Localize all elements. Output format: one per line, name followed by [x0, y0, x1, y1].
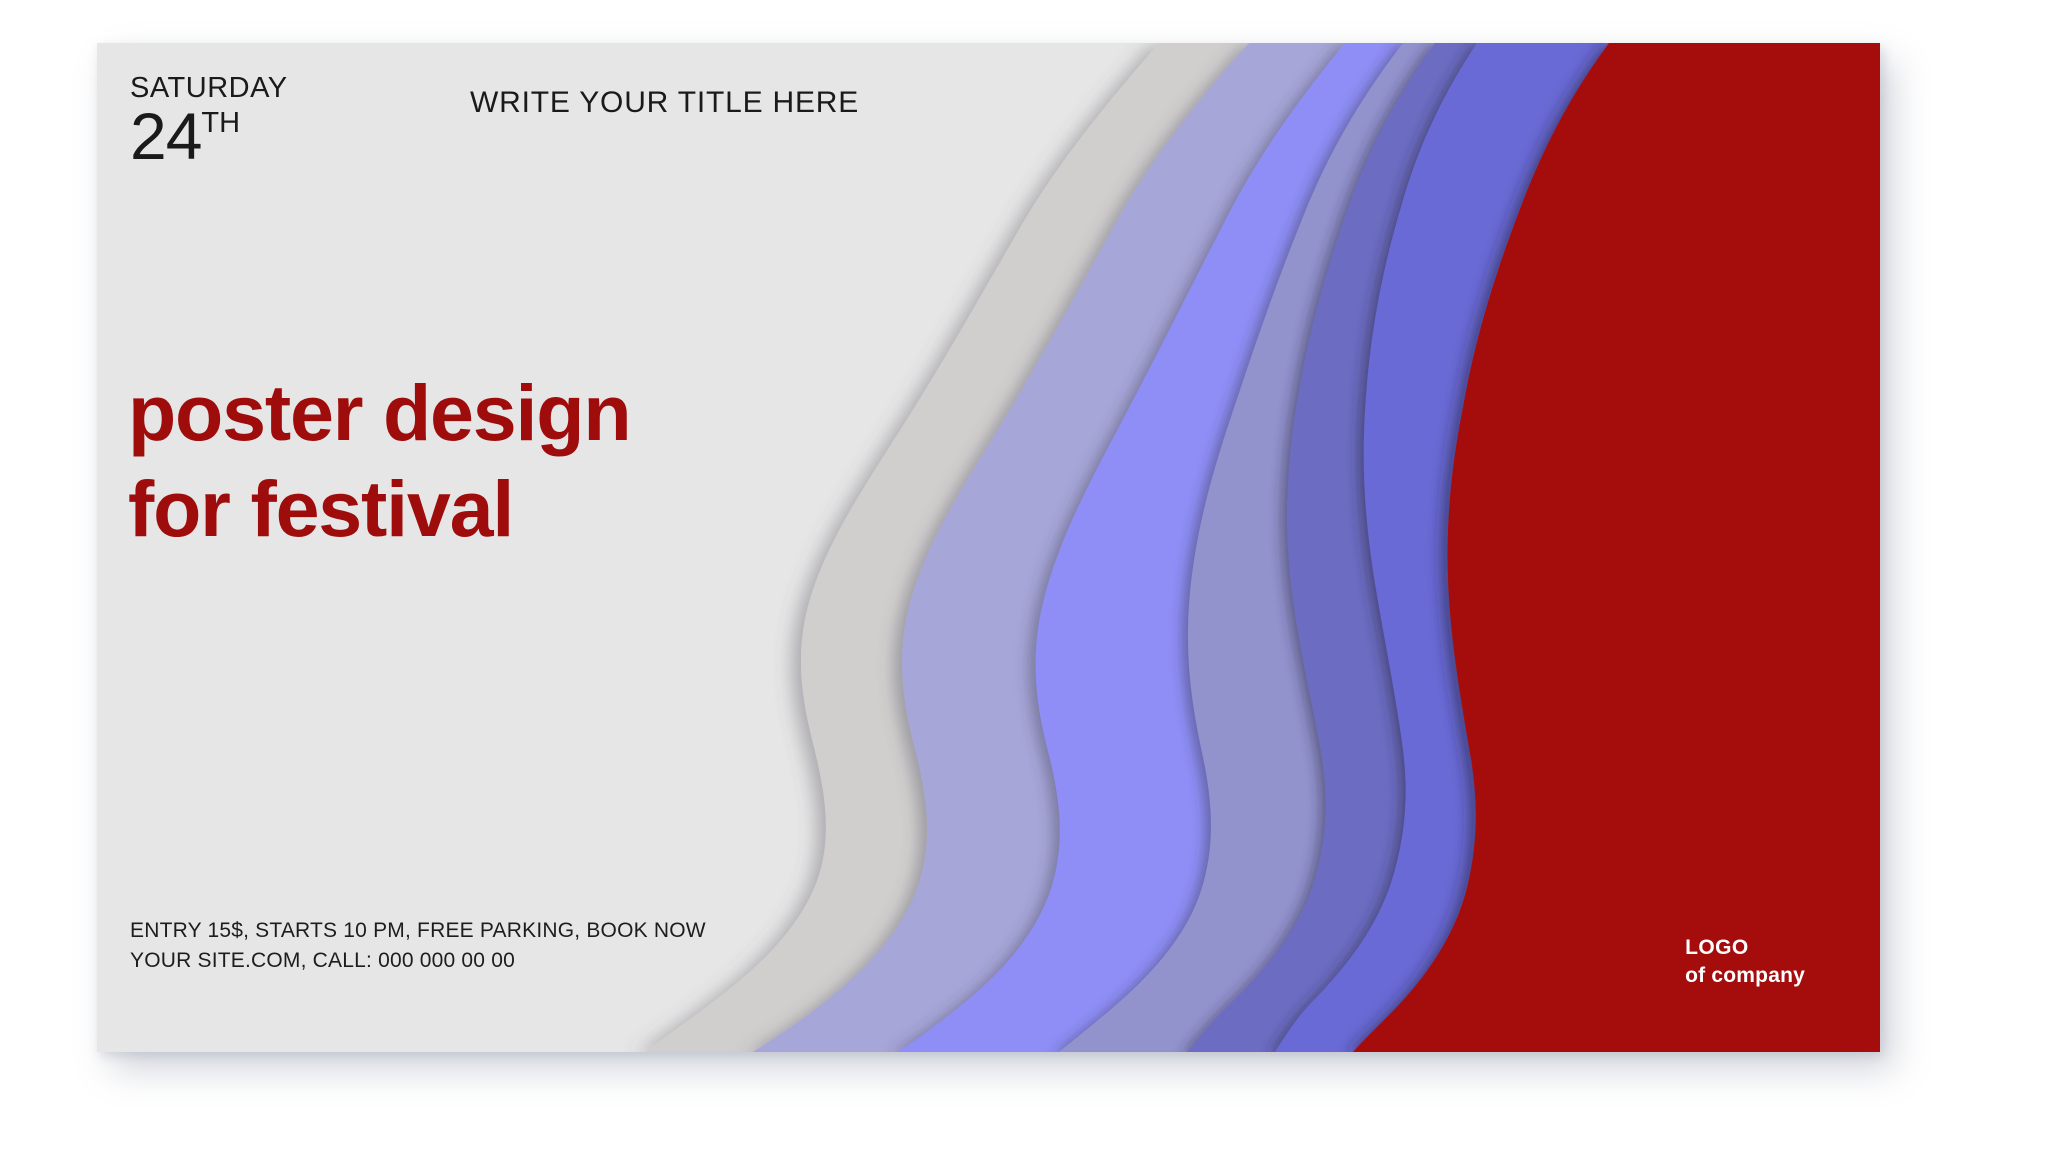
poster-headline: poster design for festival	[128, 365, 630, 558]
logo-name: LOGO	[1685, 934, 1805, 961]
date-day-number: 24	[130, 105, 201, 168]
poster-kicker-title: WRITE YOUR TITLE HERE	[470, 86, 859, 120]
poster-content: SATURDAY 24 TH WRITE YOUR TITLE HERE pos…	[97, 43, 1880, 1052]
headline-line-1: poster design	[128, 365, 630, 461]
screenshot-canvas: SATURDAY 24 TH WRITE YOUR TITLE HERE pos…	[0, 0, 2048, 1157]
poster-card: SATURDAY 24 TH WRITE YOUR TITLE HERE pos…	[97, 43, 1880, 1052]
logo-block: LOGO of company	[1685, 934, 1805, 989]
poster-footer-info: ENTRY 15$, STARTS 10 PM, FREE PARKING, B…	[130, 916, 706, 976]
footer-line-2: YOUR SITE.COM, CALL: 000 000 00 00	[130, 946, 706, 976]
footer-line-1: ENTRY 15$, STARTS 10 PM, FREE PARKING, B…	[130, 916, 706, 946]
date-block: SATURDAY 24 TH	[130, 74, 288, 168]
logo-tagline: of company	[1685, 962, 1805, 989]
headline-line-2: for festival	[128, 461, 630, 557]
date-number-row: 24 TH	[130, 105, 288, 168]
date-day-suffix: TH	[201, 109, 240, 138]
